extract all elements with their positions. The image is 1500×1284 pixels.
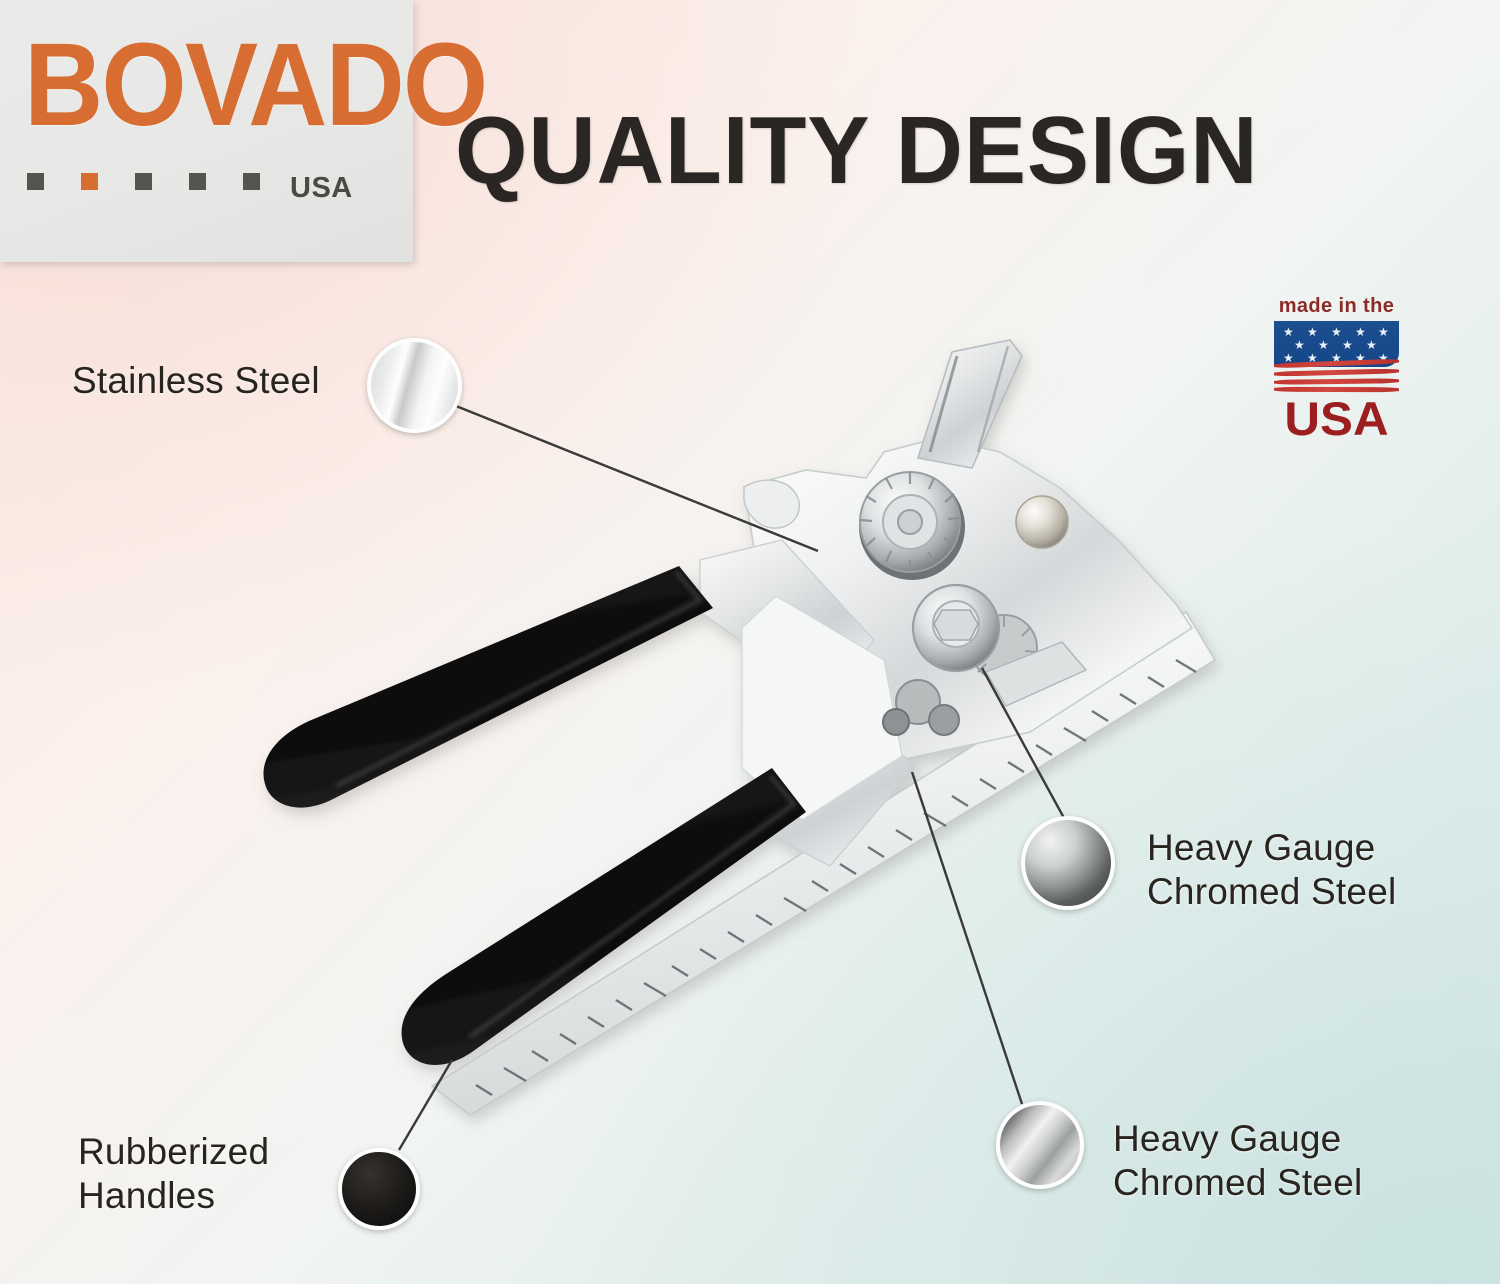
brand-dot-4 <box>189 173 206 190</box>
detail-bubble-stainless-steel <box>367 338 462 433</box>
page-title: QUALITY DESIGN <box>455 96 1258 206</box>
brand-dot-1 <box>27 173 44 190</box>
lid-lifter-tab <box>918 340 1022 468</box>
detail-bubble-rubberized-handles <box>338 1148 420 1230</box>
made-in-usa-bottom-text: USA <box>1255 395 1418 442</box>
brand-dot-3 <box>135 173 152 190</box>
callout-label-heavy-gauge-chromed-steel-bottom: Heavy Gauge Chromed Steel <box>1113 1117 1362 1204</box>
brand-wordmark: BOVADO <box>24 26 486 144</box>
dome-rivet <box>1016 496 1068 548</box>
upper-handle-grip <box>264 566 713 808</box>
callout-label-rubberized-handles: Rubberized Handles <box>78 1130 269 1217</box>
brand-logo-plate: BOVADO USA <box>0 0 413 262</box>
detail-bubble-chromed-steel-top <box>1021 816 1115 910</box>
made-in-usa-badge: made in the ★ ★ ★ ★ ★ ★ ★ ★ ★ ★ ★ ★ ★ ★ <box>1259 296 1414 452</box>
flag-stripes <box>1274 361 1399 393</box>
callout-label-stainless-steel: Stainless Steel <box>72 359 320 403</box>
brand-dot-row <box>27 173 260 190</box>
made-in-usa-top-text: made in the <box>1259 296 1414 316</box>
callout-label-heavy-gauge-chromed-steel-top: Heavy Gauge Chromed Steel <box>1147 826 1396 913</box>
infographic-canvas: Stainless Steel Rubberized Handles Heavy… <box>0 0 1500 1284</box>
brand-dot-5 <box>243 173 260 190</box>
usa-flag-icon: ★ ★ ★ ★ ★ ★ ★ ★ ★ ★ ★ ★ ★ ★ <box>1274 321 1399 393</box>
brand-country-label: USA <box>290 172 353 205</box>
brand-dot-2-accent <box>81 173 98 190</box>
detail-bubble-chromed-steel-bottom <box>996 1101 1084 1189</box>
